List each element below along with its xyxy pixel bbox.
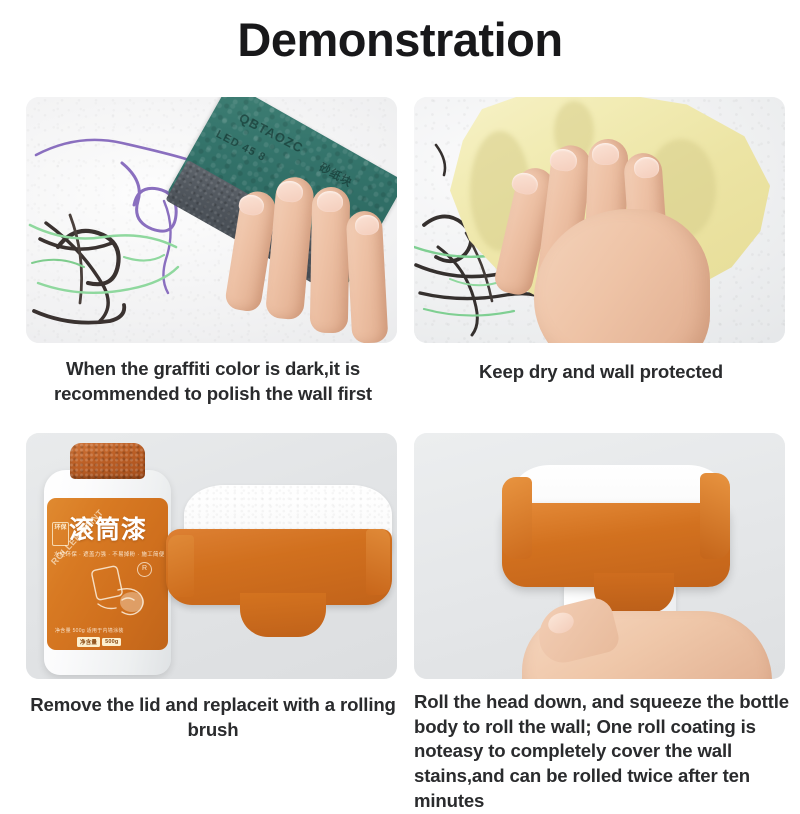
panel-polish-caption: When the graffiti color is dark,it is re… (26, 357, 400, 406)
roller-arm-right (700, 473, 730, 559)
roller-arm-left (502, 477, 532, 559)
demonstration-infographic: Demonstration (0, 0, 800, 800)
hand (522, 593, 772, 679)
bottle-cap (70, 443, 145, 479)
page-title: Demonstration (0, 12, 800, 67)
roller-arm-left (168, 535, 194, 597)
roller-brush-head (166, 485, 392, 645)
hand (500, 125, 750, 343)
panel-replace-lid: 环保 滚筒漆 水性环保 · 遮盖力强 · 不易掉粉 · 施工简便 ROLLER … (26, 433, 400, 742)
paint-bottle: 环保 滚筒漆 水性环保 · 遮盖力强 · 不易掉粉 · 施工简便 ROLLER … (44, 443, 171, 675)
panel-roll-wall-image (414, 433, 785, 679)
panel-replace-lid-caption: Remove the lid and replaceit with a roll… (26, 693, 400, 742)
label-weight-value: 500g (102, 638, 121, 646)
roller-neck (240, 593, 326, 637)
label-weight: 净含量 500g (77, 637, 121, 647)
panel-polish: QBTAOZC LED 45 8 砂纸块 When (26, 97, 400, 406)
label-footer: 净含量 500g 适用于内墙涂装 (55, 627, 124, 634)
panel-polish-image: QBTAOZC LED 45 8 砂纸块 (26, 97, 397, 343)
hand (219, 171, 397, 343)
roller-arm-right (366, 529, 390, 595)
bottle-label: 环保 滚筒漆 水性环保 · 遮盖力强 · 不易掉粉 · 施工简便 ROLLER … (47, 498, 168, 650)
panel-wipe: Keep dry and wall protected (414, 97, 788, 385)
label-weight-title: 净含量 (77, 637, 100, 647)
panel-replace-lid-image: 环保 滚筒漆 水性环保 · 遮盖力强 · 不易掉粉 · 施工简便 ROLLER … (26, 433, 397, 679)
panel-wipe-image (414, 97, 785, 343)
panel-roll-wall: Roll the head down, and squeeze the bott… (414, 433, 796, 814)
label-illustration (88, 560, 162, 622)
panel-wipe-caption: Keep dry and wall protected (414, 360, 788, 385)
panel-roll-wall-caption: Roll the head down, and squeeze the bott… (414, 690, 796, 814)
